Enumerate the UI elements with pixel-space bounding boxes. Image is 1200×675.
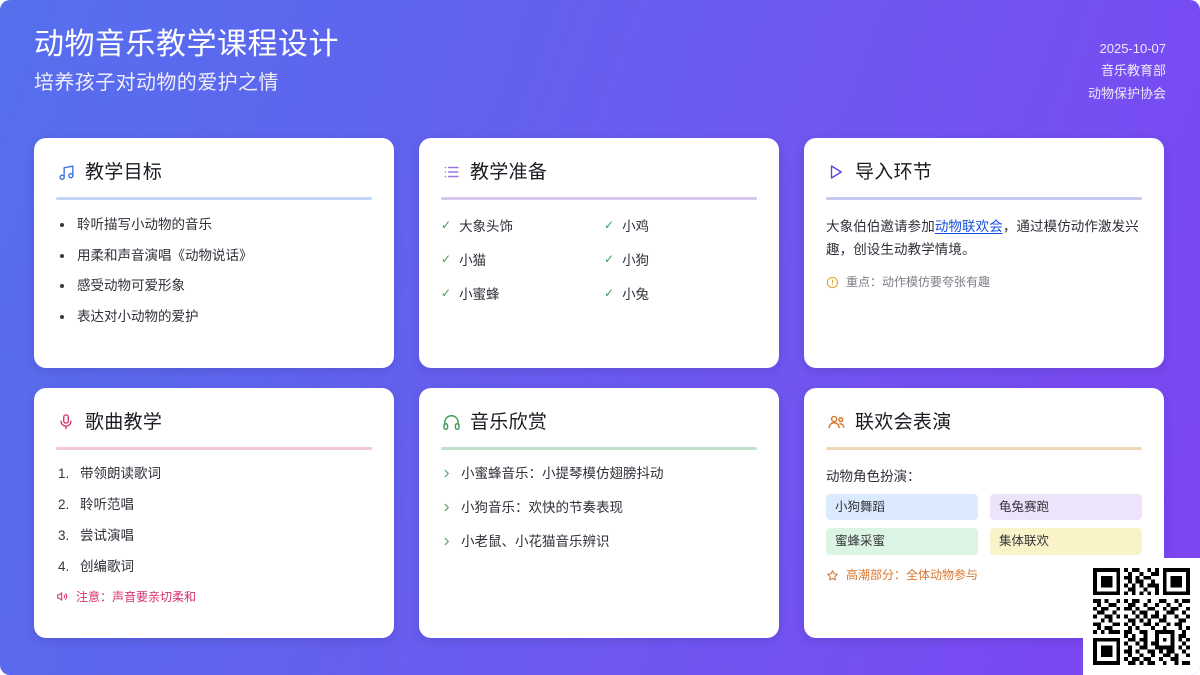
card-song-teaching: 歌曲教学 带领朗读歌词 聆听范唱 尝试演唱 创编歌词 (34, 388, 394, 638)
list-item: 小老鼠、小花猫音乐辨识 (441, 533, 757, 553)
alert-circle-icon (826, 276, 839, 289)
headphones-icon (441, 412, 461, 432)
list-item-label: 小蜜蜂 (459, 283, 500, 303)
role-tag[interactable]: 小狗舞蹈 (826, 494, 978, 520)
header-left: 动物音乐教学课程设计 培养孩子对动物的爱护之情 (34, 26, 339, 96)
card-music-appreciation: 音乐欣赏 小蜜蜂音乐：小提琴模仿翅膀抖动 小狗音乐：欢快的节奏 (419, 388, 779, 638)
check-icon: ✓ (604, 287, 614, 299)
list-item: 用柔和声音演唱《动物说话》 (56, 246, 372, 266)
card-intro-section: 导入环节 大象伯伯邀请参加动物联欢会，通过模仿动作激发兴趣，创设生动教学情境。 … (804, 138, 1164, 368)
card-title: 教学目标 (85, 163, 162, 182)
list-item: 带领朗读歌词 (56, 465, 372, 484)
card-body: ✓ 大象头饰 ✓ 小鸡 ✓ 小猫 ✓ 小狗 (441, 215, 757, 303)
card-accent-rule (56, 447, 372, 450)
list-item: 小狗音乐：欢快的节奏表现 (441, 499, 757, 519)
card-title: 音乐欣赏 (470, 413, 547, 432)
qr-code-image (1093, 568, 1190, 665)
list-item: ✓ 小鸡 (604, 215, 757, 235)
header-org-primary: 音乐教育部 (1088, 60, 1166, 82)
card-teaching-prep: 教学准备 ✓ 大象头饰 ✓ 小鸡 ✓ 小猫 (419, 138, 779, 368)
prep-checklist: ✓ 大象头饰 ✓ 小鸡 ✓ 小猫 ✓ 小狗 (441, 215, 757, 303)
role-tag[interactable]: 蜜蜂采蜜 (826, 528, 978, 554)
list-item: 尝试演唱 (56, 527, 372, 546)
slide-root: 动物音乐教学课程设计 培养孩子对动物的爱护之情 2025-10-07 音乐教育部… (0, 0, 1200, 675)
list-item: 感受动物可爱形象 (56, 276, 372, 296)
qr-code[interactable] (1083, 558, 1200, 675)
card-header: 联欢会表演 (826, 408, 1142, 436)
chevron-right-icon (441, 500, 452, 519)
card-accent-rule (441, 447, 757, 450)
card-accent-rule (826, 447, 1142, 450)
card-body: 聆听描写小动物的音乐 用柔和声音演唱《动物说话》 感受动物可爱形象 表达对小动物… (56, 215, 372, 326)
list-item-label: 小猫 (459, 249, 486, 269)
page-title: 动物音乐教学课程设计 (34, 26, 339, 64)
microphone-icon (56, 412, 76, 432)
page-subtitle: 培养孩子对动物的爱护之情 (34, 70, 339, 96)
header-date: 2025-10-07 (1088, 38, 1166, 60)
key-point-note: 重点：动作模仿要夸张有趣 (826, 274, 1142, 291)
list-item-label: 小鸡 (622, 215, 649, 235)
list-item-label: 小蜜蜂音乐：小提琴模仿翅膀抖动 (461, 465, 664, 484)
card-header: 教学准备 (441, 158, 757, 186)
card-header: 教学目标 (56, 158, 372, 186)
list-item: ✓ 小兔 (604, 283, 757, 303)
note-text: 注意：声音要亲切柔和 (76, 589, 196, 606)
list-item: 聆听描写小动物的音乐 (56, 215, 372, 235)
song-steps-list: 带领朗读歌词 聆听范唱 尝试演唱 创编歌词 (56, 465, 372, 577)
list-item-label: 小狗音乐：欢快的节奏表现 (461, 499, 623, 518)
list-item-label: 小狗 (622, 249, 649, 269)
role-tag-grid: 小狗舞蹈 龟兔赛跑 蜜蜂采蜜 集体联欢 (826, 494, 1142, 555)
card-title: 导入环节 (855, 163, 932, 182)
check-icon: ✓ (604, 219, 614, 231)
card-teaching-goals: 教学目标 聆听描写小动物的音乐 用柔和声音演唱《动物说话》 感受动物可爱形象 表… (34, 138, 394, 368)
music-note-icon (56, 162, 76, 182)
list-item: ✓ 大象头饰 (441, 215, 594, 235)
people-group-icon (826, 412, 846, 432)
list-item: ✓ 小蜜蜂 (441, 283, 594, 303)
card-body: 带领朗读歌词 聆听范唱 尝试演唱 创编歌词 注意：声音要亲切柔和 (56, 465, 372, 605)
role-tag[interactable]: 集体联欢 (990, 528, 1142, 554)
list-item: 聆听范唱 (56, 496, 372, 515)
role-tag[interactable]: 龟兔赛跑 (990, 494, 1142, 520)
card-title: 歌曲教学 (85, 413, 162, 432)
goals-list: 聆听描写小动物的音乐 用柔和声音演唱《动物说话》 感受动物可爱形象 表达对小动物… (56, 215, 372, 326)
chevron-right-icon (441, 534, 452, 553)
check-icon: ✓ (604, 253, 614, 265)
caution-note: 注意：声音要亲切柔和 (56, 589, 372, 606)
card-title: 联欢会表演 (855, 413, 952, 432)
card-accent-rule (441, 197, 757, 200)
speaker-icon (56, 590, 69, 603)
check-icon: ✓ (441, 253, 451, 265)
star-icon (826, 569, 839, 582)
intro-text-before: 大象伯伯邀请参加 (826, 219, 935, 234)
card-accent-rule (826, 197, 1142, 200)
list-item: 创编歌词 (56, 558, 372, 577)
card-accent-rule (56, 197, 372, 200)
list-item: ✓ 小猫 (441, 249, 594, 269)
list-item-label: 小兔 (622, 283, 649, 303)
play-triangle-icon (826, 162, 846, 182)
list-item: 小蜜蜂音乐：小提琴模仿翅膀抖动 (441, 465, 757, 485)
party-link[interactable]: 动物联欢会 (935, 219, 1003, 234)
header-meta: 2025-10-07 音乐教育部 动物保护协会 (1088, 26, 1166, 105)
list-item: 表达对小动物的爱护 (56, 307, 372, 327)
check-icon: ✓ (441, 287, 451, 299)
card-header: 导入环节 (826, 158, 1142, 186)
card-title: 教学准备 (470, 163, 547, 182)
list-item-label: 小老鼠、小花猫音乐辨识 (461, 533, 610, 552)
slide-header: 动物音乐教学课程设计 培养孩子对动物的爱护之情 2025-10-07 音乐教育部… (0, 0, 1200, 128)
list-item-label: 大象头饰 (459, 215, 513, 235)
intro-paragraph: 大象伯伯邀请参加动物联欢会，通过模仿动作激发兴趣，创设生动教学情境。 (826, 215, 1142, 262)
card-body: 小蜜蜂音乐：小提琴模仿翅膀抖动 小狗音乐：欢快的节奏表现 小老鼠、小花猫音乐辨识 (441, 465, 757, 553)
card-body: 大象伯伯邀请参加动物联欢会，通过模仿动作激发兴趣，创设生动教学情境。 重点：动作… (826, 215, 1142, 290)
card-header: 音乐欣赏 (441, 408, 757, 436)
card-grid: 教学目标 聆听描写小动物的音乐 用柔和声音演唱《动物说话》 感受动物可爱形象 表… (34, 138, 1166, 638)
check-icon: ✓ (441, 219, 451, 231)
roles-label: 动物角色扮演： (826, 465, 1142, 485)
header-org-secondary: 动物保护协会 (1088, 83, 1166, 105)
list-item: ✓ 小狗 (604, 249, 757, 269)
appreciation-list: 小蜜蜂音乐：小提琴模仿翅膀抖动 小狗音乐：欢快的节奏表现 小老鼠、小花猫音乐辨识 (441, 465, 757, 553)
list-icon (441, 162, 461, 182)
card-header: 歌曲教学 (56, 408, 372, 436)
chevron-right-icon (441, 466, 452, 485)
note-text: 高潮部分：全体动物参与 (846, 567, 978, 584)
note-text: 重点：动作模仿要夸张有趣 (846, 274, 990, 291)
